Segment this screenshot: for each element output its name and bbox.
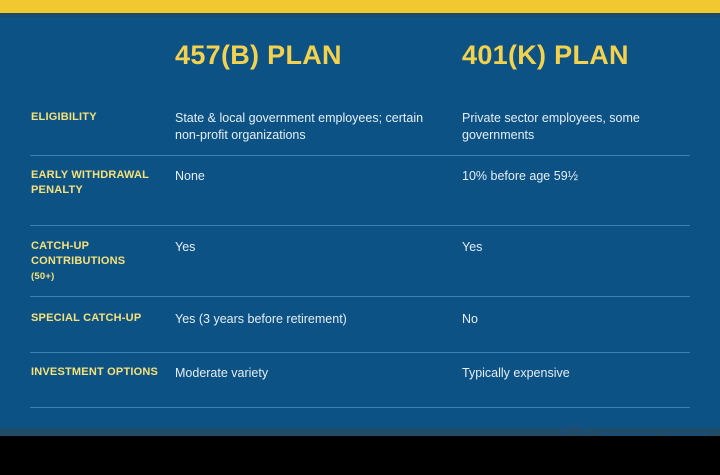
column-header-401k: 401(K) PLAN — [462, 40, 629, 71]
top-accent-bar — [0, 0, 720, 13]
bottom-letterbox-bar — [0, 436, 720, 475]
row-value-early-withdrawal-penalty-401k: 10% before age 59½ — [462, 168, 697, 185]
row-value-catch-up-contributions-457b: Yes — [175, 239, 445, 256]
row-value-early-withdrawal-penalty-457b: None — [175, 168, 445, 185]
row-divider — [30, 155, 690, 156]
row-value-eligibility-401k: Private sector employees, some governmen… — [462, 110, 697, 144]
row-value-investment-options-457b: Moderate variety — [175, 365, 445, 382]
row-value-special-catch-up-401k: No — [462, 311, 697, 328]
row-divider — [30, 296, 690, 297]
row-label-investment-options: INVESTMENT OPTIONS — [31, 365, 166, 380]
row-label-catch-up-contributions: CATCH-UP CONTRIBUTIONS (50+) — [31, 239, 166, 284]
row-value-eligibility-457b: State & local government employees; cert… — [175, 110, 445, 144]
row-label-special-catch-up: SPECIAL CATCH-UP — [31, 311, 166, 326]
row-divider — [30, 352, 690, 353]
row-label-catch-up-contributions-sub: (50+) — [31, 269, 166, 284]
row-value-catch-up-contributions-401k: Yes — [462, 239, 697, 256]
row-value-special-catch-up-457b: Yes (3 years before retirement) — [175, 311, 445, 328]
row-value-investment-options-401k: Typically expensive — [462, 365, 697, 382]
row-label-catch-up-contributions-main: CATCH-UP CONTRIBUTIONS — [31, 240, 125, 267]
column-header-457b: 457(B) PLAN — [175, 40, 342, 71]
row-label-early-withdrawal-penalty: EARLY WITHDRAWAL PENALTY — [31, 168, 166, 198]
comparison-slide: 457(B) PLAN 401(K) PLAN ELIGIBILITY Stat… — [0, 0, 720, 475]
row-label-eligibility: ELIGIBILITY — [31, 110, 166, 125]
row-divider — [30, 407, 690, 408]
row-divider — [30, 225, 690, 226]
